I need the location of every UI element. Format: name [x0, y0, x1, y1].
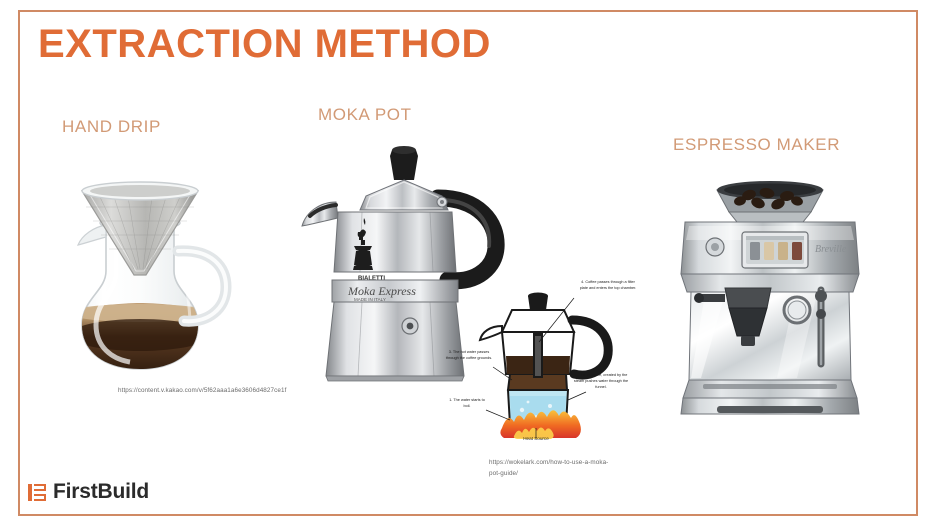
diagram-note-2: 2. The pressure, created by the steam pu… [570, 373, 632, 391]
diagram-heat-source-label: Heat Source [506, 436, 566, 441]
hand-drip-image [60, 163, 245, 378]
diagram-note-1-number: 1. [449, 398, 452, 402]
hand-drip-carafe-illustration [60, 163, 245, 378]
firstbuild-logo-mark-icon [28, 484, 46, 501]
svg-text:Moka Express: Moka Express [347, 284, 416, 298]
diagram-note-4-number: 4. [581, 280, 584, 284]
diagram-note-2-number: 2. [575, 373, 578, 377]
diagram-note-1: 1. The water starts to boil. [446, 398, 488, 410]
hand-drip-source-caption: https://content.v.kakao.com/v/5f62aaa1a6… [118, 385, 238, 396]
firstbuild-logo: FirstBuild [28, 480, 149, 504]
slide-canvas: EXTRACTION METHOD HAND DRIP [0, 0, 936, 527]
espresso-maker-image: Breville [645, 168, 895, 426]
firstbuild-logo-text: FirstBuild [53, 480, 149, 504]
svg-text:MADE IN ITALY: MADE IN ITALY [354, 297, 386, 302]
diagram-note-3-text: The hot water passes through the coffee … [446, 350, 492, 360]
logo-b-shape [34, 484, 46, 501]
column-label-hand-drip: HAND DRIP [62, 117, 161, 137]
diagram-note-2-text: The pressure, created by the steam pushe… [574, 373, 628, 389]
moka-pot-diagram-illustration [440, 270, 640, 455]
diagram-note-1-text: The water starts to boil. [453, 398, 484, 408]
diagram-note-4: 4. Coffee passes through a filter plate … [578, 280, 638, 292]
logo-i-bar [28, 484, 32, 501]
moka-pot-source-caption: https://wokelark.com/how-to-use-a-moka-p… [489, 457, 609, 479]
diagram-note-3: 3. The hot water passes through the coff… [443, 350, 495, 362]
column-label-espresso-maker: ESPRESSO MAKER [673, 135, 840, 155]
page-title: EXTRACTION METHOD [38, 22, 491, 67]
espresso-machine-illustration: Breville [645, 168, 895, 426]
moka-pot-diagram: 4. Coffee passes through a filter plate … [440, 270, 640, 455]
diagram-note-4-text: Coffee passes through a filter plate and… [580, 280, 637, 290]
breville-wordmark: Breville [815, 244, 847, 255]
diagram-note-3-number: 3. [449, 350, 452, 354]
column-label-moka-pot: MOKA POT [318, 105, 412, 125]
